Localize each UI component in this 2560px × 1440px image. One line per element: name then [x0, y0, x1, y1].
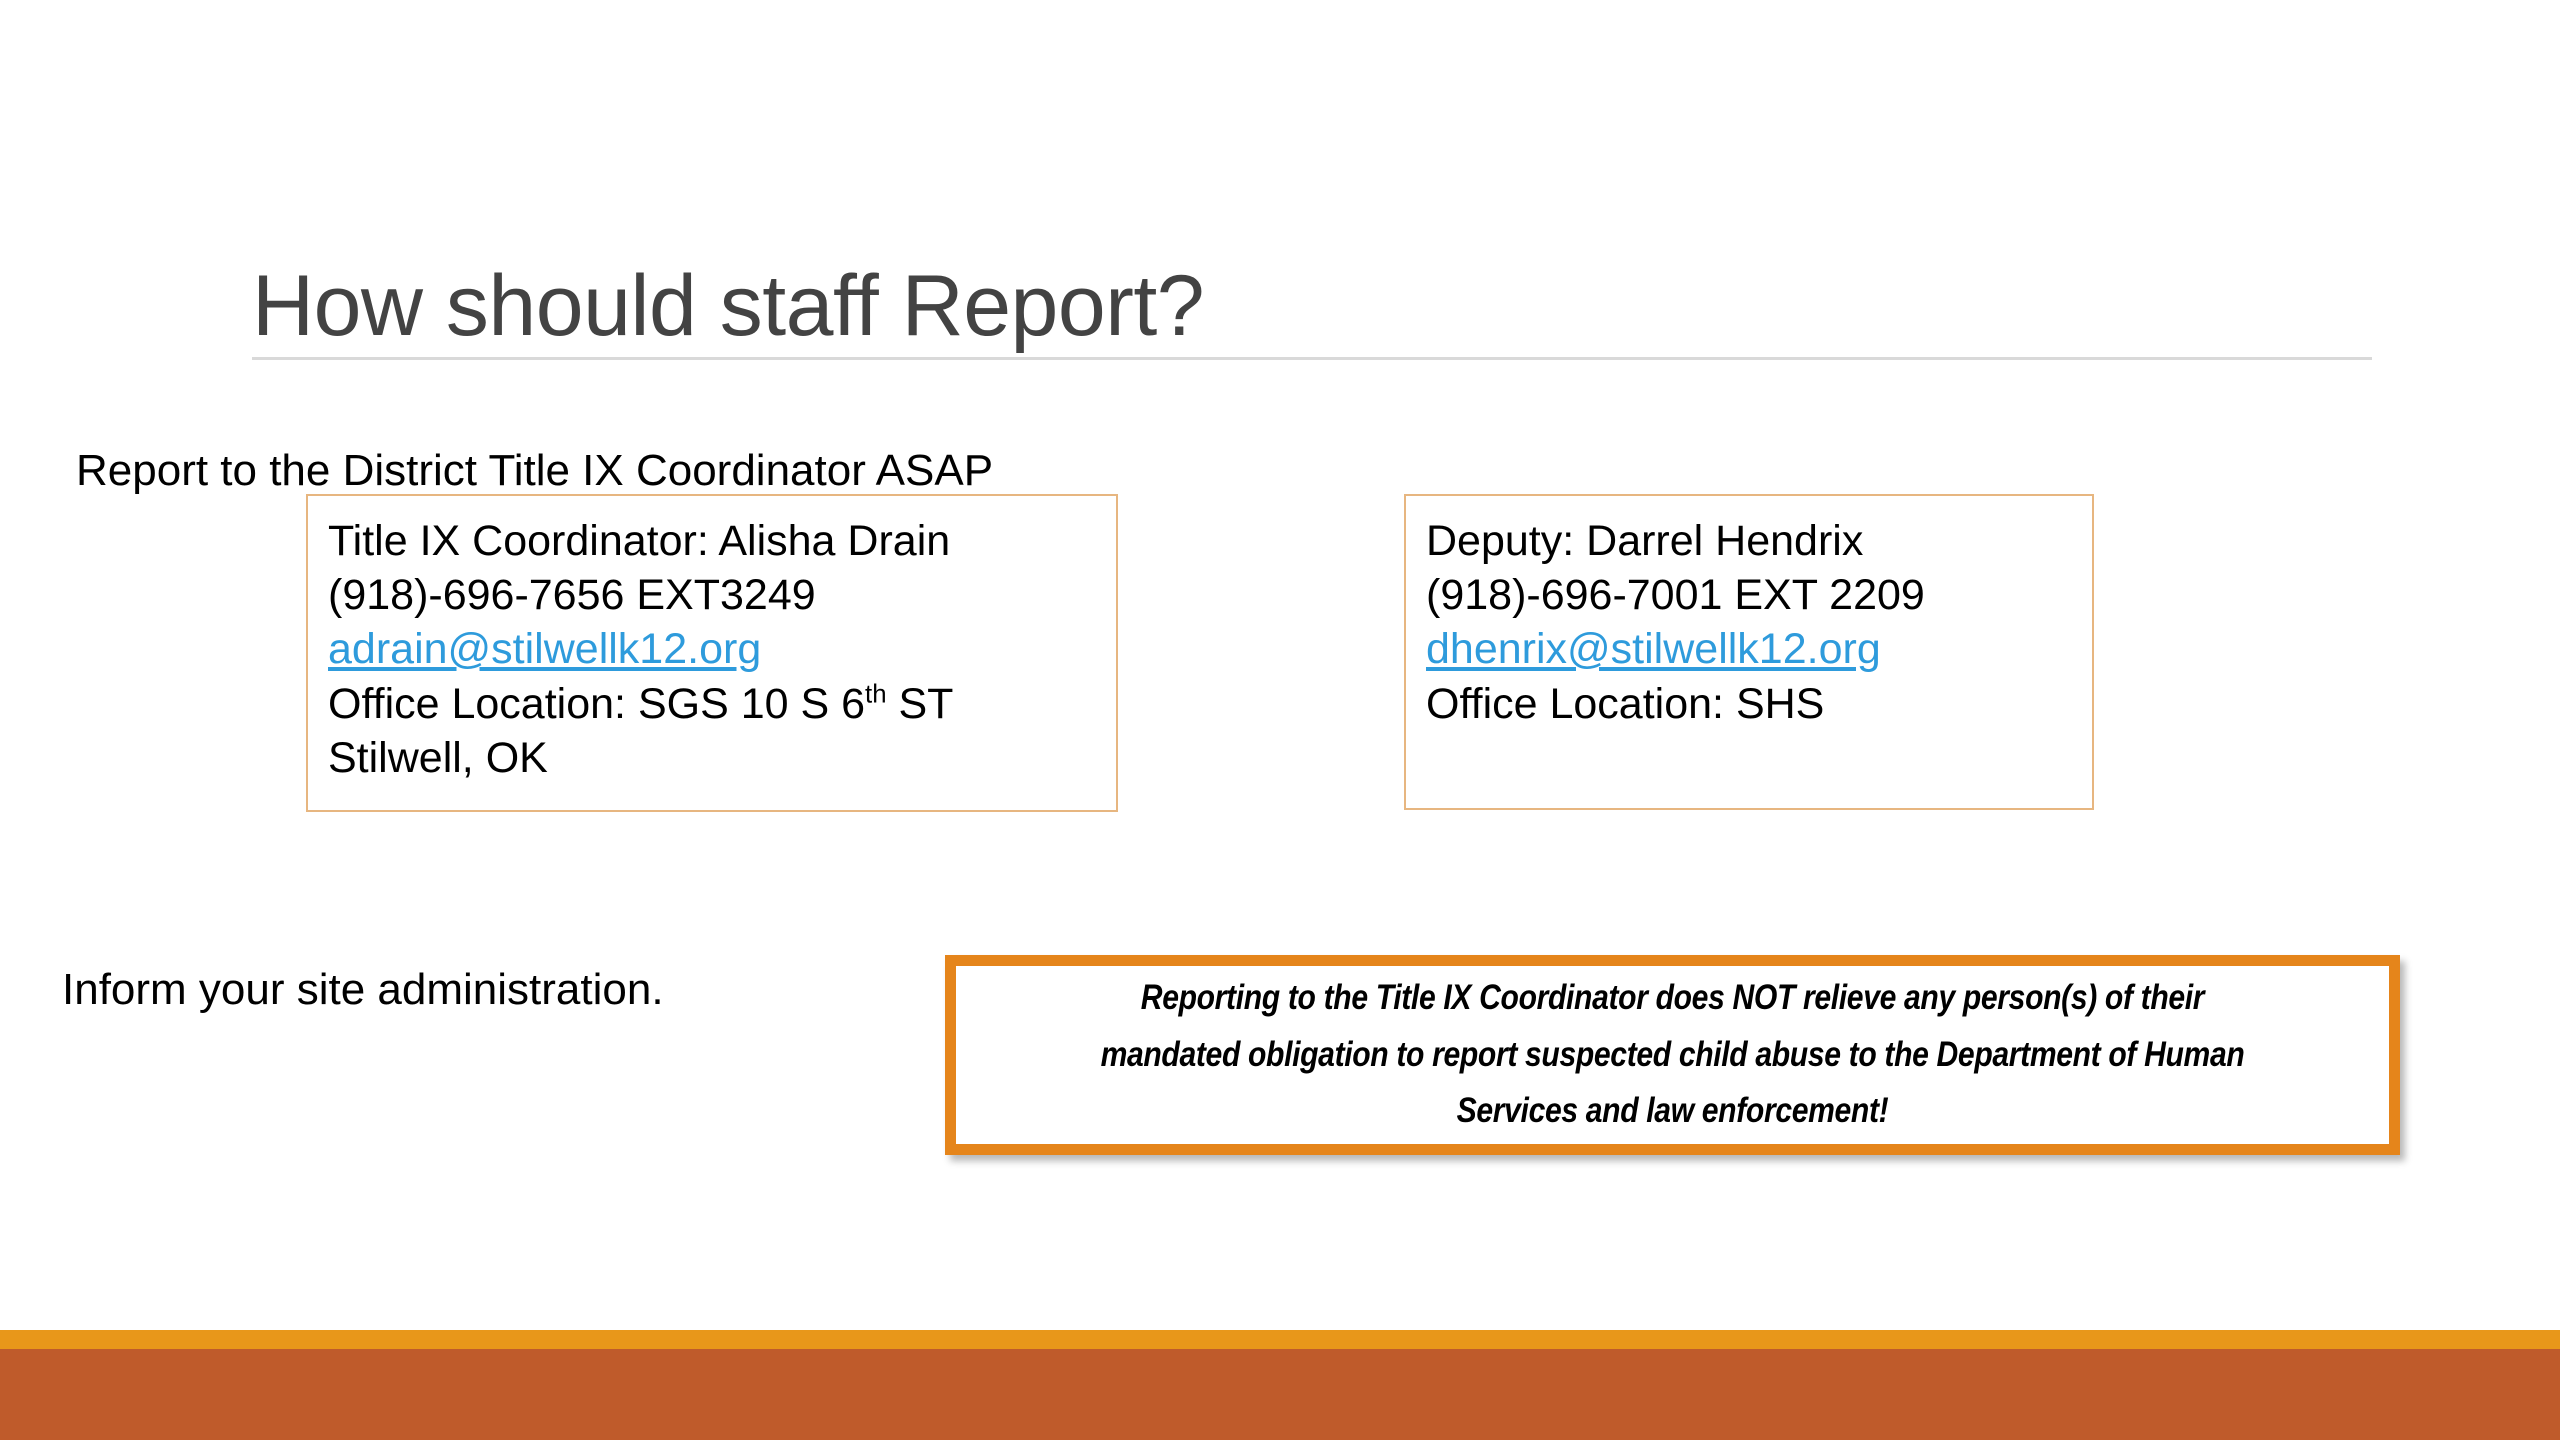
page-title: How should staff Report?	[252, 256, 2382, 357]
coordinator-office-prefix: Office Location: SGS 10 S 6	[328, 680, 865, 728]
coordinator-phone: (918)-696-7656 EXT3249	[328, 568, 1116, 622]
report-instruction-text: Report to the District Title IX Coordina…	[76, 443, 993, 498]
footer-accent-stripe	[0, 1330, 2560, 1349]
deputy-name: Deputy: Darrel Hendrix	[1426, 514, 2092, 568]
inform-administration-text: Inform your site administration.	[62, 962, 664, 1017]
coordinator-email-link[interactable]: adrain@stilwellk12.org	[328, 622, 761, 676]
title-divider	[252, 357, 2372, 360]
coordinator-office-location: Office Location: SGS 10 S 6th ST	[328, 677, 1116, 731]
deputy-office-location: Office Location: SHS	[1426, 677, 2092, 731]
footer-band	[0, 1349, 2560, 1440]
mandated-reporting-callout-text: Reporting to the Title IX Coordinator do…	[1070, 970, 2275, 1140]
deputy-phone: (918)-696-7001 EXT 2209	[1426, 568, 2092, 622]
contact-card-deputy: Deputy: Darrel Hendrix (918)-696-7001 EX…	[1404, 494, 2094, 810]
mandated-reporting-callout: Reporting to the Title IX Coordinator do…	[945, 955, 2400, 1155]
coordinator-name: Title IX Coordinator: Alisha Drain	[328, 514, 1116, 568]
contact-card-coordinator: Title IX Coordinator: Alisha Drain (918)…	[306, 494, 1118, 812]
coordinator-office-suffix: ST	[887, 680, 954, 728]
coordinator-office-ordinal: th	[865, 680, 887, 708]
deputy-email-link[interactable]: dhenrix@stilwellk12.org	[1426, 622, 1881, 676]
slide-canvas: How should staff Report? Report to the D…	[0, 0, 2560, 1440]
coordinator-office-city: Stilwell, OK	[328, 731, 1116, 785]
